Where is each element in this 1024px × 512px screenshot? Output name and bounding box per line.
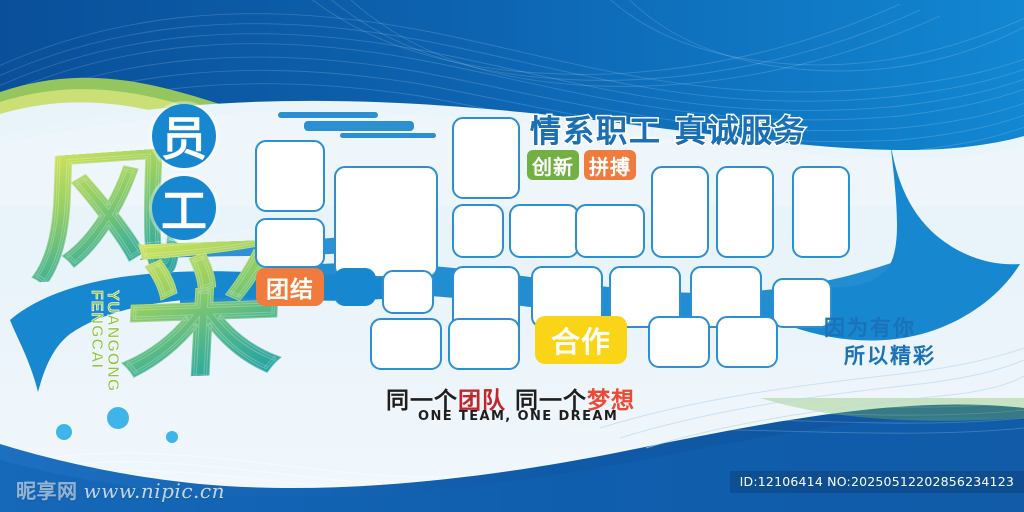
photo-frame[interactable] xyxy=(716,166,774,258)
deco-line-2 xyxy=(304,121,414,131)
photo-frame[interactable] xyxy=(452,204,504,258)
watermark-url: www.nipic.cn xyxy=(84,479,225,503)
photo-frame[interactable] xyxy=(792,166,850,258)
badge-hezuo[interactable]: 合作 xyxy=(535,316,627,364)
photo-frame[interactable] xyxy=(334,166,438,278)
calligraphy-block: 风 采 YUANGONG FENGCAI xyxy=(14,150,284,410)
poster-canvas: 风 采 YUANGONG FENGCAI 员 工 情系职工 真诚服务 情系职工 … xyxy=(0,0,1024,512)
photo-frame[interactable] xyxy=(382,270,434,314)
deco-line-3 xyxy=(340,133,436,138)
photo-frame[interactable] xyxy=(255,140,325,212)
photo-frame[interactable] xyxy=(651,166,709,258)
right-slogan-line-2: 所以精彩 xyxy=(844,340,936,370)
image-id-tag: ID:12106414 NO:20250512202856234123 xyxy=(730,471,1024,493)
photo-frame[interactable] xyxy=(716,316,778,368)
photo-frame[interactable] xyxy=(370,318,442,370)
photo-frame[interactable] xyxy=(255,218,325,268)
right-slogan-line-1: 因为有你 xyxy=(824,312,916,342)
deco-line-1 xyxy=(278,112,378,118)
photo-frame[interactable] xyxy=(575,204,645,258)
badge-tuanjie[interactable]: 团结 xyxy=(256,268,324,306)
circle-badge-yuan: 员 xyxy=(152,104,216,168)
watermark-cn: 昵享网 xyxy=(16,479,78,503)
photo-frame[interactable] xyxy=(772,278,832,328)
bottom-slogan-en: ONE TEAM, ONE DREAM xyxy=(418,409,618,424)
badge-chuangxin[interactable]: 创新 xyxy=(527,150,579,180)
circle-badge-gong: 工 xyxy=(152,176,216,240)
photo-frame[interactable] xyxy=(448,318,520,370)
photo-frame[interactable] xyxy=(452,117,520,199)
pinyin-line-2: FENGCAI xyxy=(88,290,104,392)
pinyin-label: YUANGONG FENGCAI xyxy=(88,290,120,392)
decorative-dot xyxy=(107,407,129,429)
photo-frame[interactable] xyxy=(648,316,710,368)
decorative-dot xyxy=(166,431,178,443)
badge-pinbo[interactable]: 拼搏 xyxy=(584,150,636,180)
pinyin-line-1: YUANGONG xyxy=(104,290,120,392)
photo-frame[interactable] xyxy=(509,204,579,258)
page-title: 情系职工 真诚服务 xyxy=(530,106,807,151)
decorative-dot xyxy=(56,424,72,440)
watermark: 昵享网www.nipic.cn xyxy=(16,475,225,504)
photo-frame[interactable] xyxy=(334,268,376,306)
